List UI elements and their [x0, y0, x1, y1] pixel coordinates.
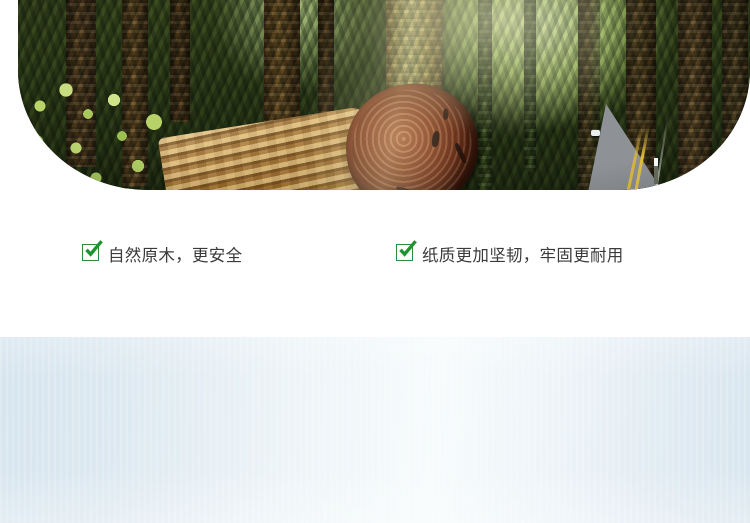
section-banner: 舒柔纯品压花擦手纸: [0, 337, 750, 523]
feature-label: 自然原木，更安全: [108, 240, 242, 272]
log-crack: [454, 142, 468, 164]
background-texture: [0, 337, 750, 523]
feature-label: 纸质更加坚韧，牢固更耐用: [422, 240, 624, 272]
fallen-log: [168, 74, 468, 190]
green-checkbox-icon: [396, 244, 413, 261]
log-crack: [395, 185, 423, 190]
forest-scene: [18, 0, 750, 190]
distant-car: [591, 130, 600, 136]
log-crack: [443, 109, 448, 120]
feature-list: 自然原木，更安全 纸质更加坚韧，牢固更耐用: [0, 206, 750, 337]
roadside-post: [654, 158, 658, 184]
log-cut-end: [339, 76, 485, 190]
log-crack: [431, 131, 440, 148]
hero-image: [18, 0, 750, 190]
product-detail-page: 自然原木，更安全 纸质更加坚韧，牢固更耐用 舒柔纯品压花擦手纸: [0, 0, 750, 523]
feature-item: 纸质更加坚韧，牢固更耐用: [396, 206, 696, 337]
feature-item: 自然原木，更安全: [82, 206, 382, 337]
green-checkbox-icon: [82, 244, 99, 261]
